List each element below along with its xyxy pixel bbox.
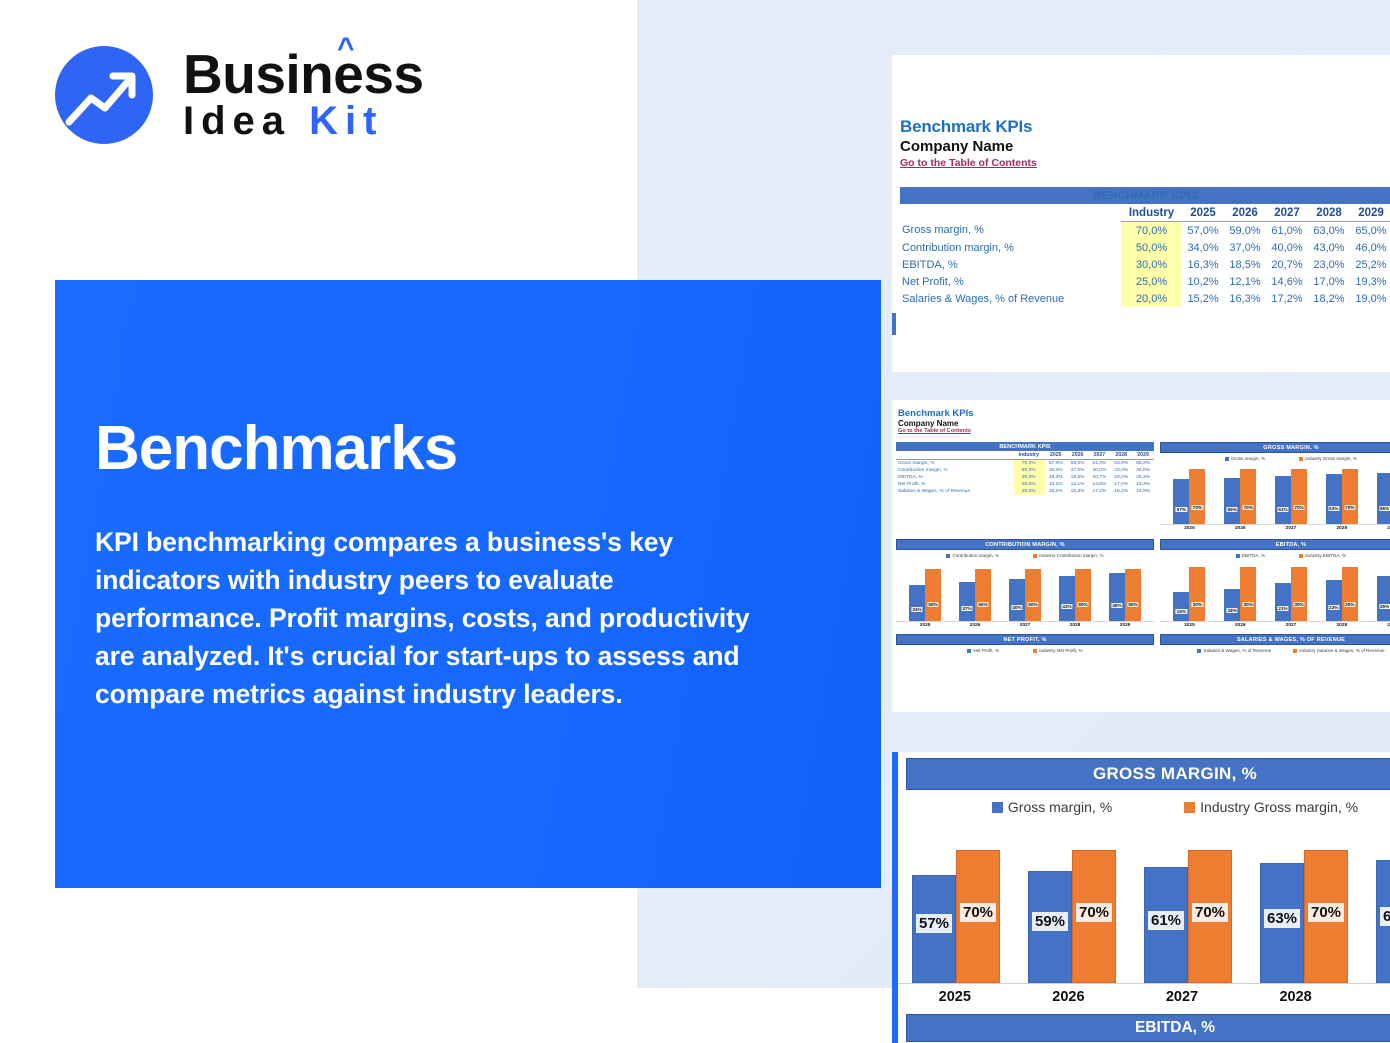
chart-bar-group: 37%50%: [959, 558, 991, 621]
cell-value: 15,2%: [1182, 290, 1224, 307]
axis-tick-label: 2026: [1235, 526, 1246, 531]
row-label: Net Profit, %: [900, 273, 1121, 290]
table-row: Contribution margin, % 50,0% 34,0% 37,0%…: [896, 467, 1154, 474]
chart-bar-value: 70%: [1192, 505, 1203, 510]
chart-x-axis: 20252026202720282029: [898, 989, 1390, 1005]
row-label: Gross margin, %: [900, 222, 1121, 240]
axis-tick-label: 2027: [1020, 623, 1031, 628]
col-2026: 2026: [1067, 451, 1089, 460]
chart-bar: 57%: [912, 875, 956, 983]
chart-legend: Net Profit, % Industry Net Profit, %: [896, 645, 1154, 653]
chart-bar: 43%: [1059, 576, 1075, 621]
chart-bar-value: 61%: [1277, 507, 1288, 512]
cell-value: 14,6%: [1089, 481, 1111, 488]
chart-bar-value: 40%: [1011, 605, 1022, 610]
cell-value: 40,0%: [1089, 467, 1111, 474]
chart-panel-bottom[interactable]: GROSS MARGIN, % Gross margin, % Industry…: [892, 752, 1390, 1043]
chart-bar: 50%: [1125, 569, 1141, 622]
chart-bar: 63%: [1326, 474, 1342, 524]
col-industry: Industry: [1121, 204, 1182, 222]
cell-value: 34,0%: [1182, 239, 1224, 256]
cell-value: 17,2%: [1266, 290, 1308, 307]
chart-bar: 25%: [1377, 576, 1390, 621]
cell-value: 19,3%: [1350, 273, 1390, 290]
cell-value: 34,0%: [1045, 467, 1067, 474]
cell-value: 18,5%: [1067, 474, 1089, 481]
chart-title: GROSS MARGIN, %: [1160, 442, 1390, 453]
table-header-row: Industry 2025 2026 2027 2028 2029: [896, 451, 1154, 460]
axis-tick-label: 2029: [1120, 623, 1131, 628]
chart-bar-value: 30%: [1192, 602, 1203, 607]
axis-tick-label: 2028: [1253, 989, 1339, 1005]
chart-bar-value: 65%: [1380, 907, 1390, 926]
legend-swatch-industry: [1033, 554, 1037, 558]
legend-swatch-company: [1236, 554, 1240, 558]
chart-bar: 50%: [975, 569, 991, 622]
chart-plot-area: 34%50%37%50%40%50%43%50%46%50%: [896, 558, 1154, 622]
hero-panel: Benchmarks KPI benchmarking compares a b…: [55, 280, 881, 888]
cell-value: 10,2%: [1182, 273, 1224, 290]
table-of-contents-link[interactable]: Go to the Table of Contents: [900, 157, 1390, 169]
cell-value: 20,7%: [1266, 256, 1308, 273]
cell-value: 17,0%: [1110, 481, 1132, 488]
axis-tick-label: 2029: [1366, 989, 1390, 1005]
cell-value: 19,3%: [1132, 481, 1154, 488]
cell-value: 14,6%: [1266, 273, 1308, 290]
chart-bar-value: 50%: [1127, 602, 1138, 607]
chart-x-axis: 20252026202720282029: [1160, 622, 1390, 628]
table-row: EBITDA, % 30,0% 16,3% 18,5% 20,7% 23,0% …: [896, 474, 1154, 481]
cell-value: 37,0%: [1067, 467, 1089, 474]
chart-bar: 50%: [925, 569, 941, 622]
chart-bar-value: 18%: [1227, 608, 1238, 613]
col-2029: 2029: [1132, 451, 1154, 460]
chart-bar-value: 70%: [1243, 505, 1254, 510]
legend-swatch-company: [992, 802, 1003, 813]
table-row: Net Profit, % 25,0% 10,2% 12,1% 14,6% 17…: [900, 273, 1390, 290]
chart-bar-group: 65%70%: [1377, 461, 1390, 524]
legend-swatch-industry: [1033, 649, 1037, 653]
chart-bar-group: 46%50%: [1109, 558, 1141, 621]
spreadsheet-panel-middle[interactable]: Benchmark KPIs Company Name Go to the Ta…: [892, 400, 1390, 712]
legend-label: Gross margin, %: [1008, 799, 1112, 815]
chart-bar-value: 70%: [1344, 505, 1355, 510]
axis-tick-label: 2025: [1184, 623, 1195, 628]
chart-bar-group: 65%70%: [1376, 831, 1390, 983]
cell-value: 12,1%: [1067, 481, 1089, 488]
chart-bar: 50%: [1075, 569, 1091, 622]
cell-value: 25,2%: [1350, 256, 1390, 273]
col-blank: [896, 451, 1013, 460]
cell-value: 46,0%: [1350, 239, 1390, 256]
sheet-left-marker: [892, 313, 896, 335]
chart-bar-group: 59%70%: [1224, 461, 1256, 524]
cell-value: 61,0%: [1266, 222, 1308, 240]
chart-bar-value: 50%: [977, 602, 988, 607]
legend-label: Salaries & Wages, % of Revenue: [1203, 648, 1271, 653]
cell-industry: 20,0%: [1013, 488, 1045, 495]
legend-swatch-industry: [1299, 457, 1303, 461]
col-2025: 2025: [1182, 204, 1224, 222]
chart-bar-value: 43%: [1061, 604, 1072, 609]
chart-bar-value: 16%: [1176, 609, 1187, 614]
axis-tick-label: 2025: [1184, 526, 1195, 531]
legend-swatch-company: [1225, 457, 1229, 461]
chart-bar-group: 18%30%: [1224, 558, 1256, 621]
chart-bar: 16%: [1173, 592, 1189, 621]
legend-label: Net Profit, %: [973, 648, 999, 653]
cell-value: 20,7%: [1089, 474, 1111, 481]
chart-title: GROSS MARGIN, %: [906, 758, 1390, 790]
chart-bar-value: 34%: [911, 607, 922, 612]
cell-value: 19,0%: [1132, 488, 1154, 495]
chart-bar: 63%: [1260, 863, 1304, 983]
chart-bar-value: 70%: [1192, 903, 1228, 922]
cell-industry: 25,0%: [1121, 273, 1182, 290]
chart-bar: 65%: [1376, 860, 1390, 984]
table-row: Salaries & Wages, % of Revenue 20,0% 15,…: [896, 488, 1154, 495]
legend-swatch-company: [946, 554, 950, 558]
cell-value: 16,3%: [1182, 256, 1224, 273]
axis-tick-label: 2027: [1286, 526, 1297, 531]
chart-ebitda-mini[interactable]: EBITDA, % EBITDA, % Industry EBITDA, % 1…: [1160, 539, 1390, 628]
axis-tick-label: 2025: [920, 623, 931, 628]
axis-tick-label: 2026: [1026, 989, 1112, 1005]
chart-bar-group: 34%50%: [909, 558, 941, 621]
chart-bar-value: 50%: [1027, 602, 1038, 607]
chart-bar: 59%: [1224, 478, 1240, 524]
chart-bar: 70%: [1189, 469, 1205, 524]
legend-label: Industry Net Profit, %: [1039, 648, 1082, 653]
legend-swatch-industry: [1293, 649, 1297, 653]
col-blank: [900, 204, 1121, 222]
cell-industry: 50,0%: [1013, 467, 1045, 474]
chart-bar: 50%: [1025, 569, 1041, 622]
chart-bar: 59%: [1028, 871, 1072, 983]
sheet-subtitle: Company Name: [898, 419, 1390, 428]
chart-plot-area: 57%70%59%70%61%70%63%70%65%70%: [1160, 461, 1390, 525]
cell-value: 59,0%: [1067, 460, 1089, 468]
brand-name-primary: Business ^: [183, 48, 424, 101]
chart-bar-group: 59%70%: [1028, 831, 1116, 983]
chart-title: SALARIES & WAGES, % OF REVENUE: [1160, 634, 1390, 645]
col-2028: 2028: [1110, 451, 1132, 460]
sheet-title: Benchmark KPIs: [898, 408, 1390, 419]
chart-x-axis: 20252026202720282029: [1160, 525, 1390, 531]
chart-contribution-margin-mini[interactable]: CONTRIBUTION MARGIN, % Contribution marg…: [896, 539, 1154, 628]
chart-bar: 70%: [1342, 469, 1358, 524]
chart-bar: 30%: [1240, 567, 1256, 621]
col-2028: 2028: [1308, 204, 1350, 222]
table-row: Salaries & Wages, % of Revenue 20,0% 15,…: [900, 290, 1390, 307]
chart-bar-value: 70%: [1308, 903, 1344, 922]
axis-tick-label: 2027: [1139, 989, 1225, 1005]
chart-bar-value: 23%: [1328, 605, 1339, 610]
cell-value: 65,0%: [1350, 222, 1390, 240]
chart-bar-value: 57%: [1176, 507, 1187, 512]
axis-tick-label: 2026: [1235, 623, 1246, 628]
cell-value: 46,0%: [1132, 467, 1154, 474]
brand-word-idea: Idea: [183, 99, 291, 143]
chart-plot-area: 57%70%59%70%61%70%63%70%65%70%: [898, 831, 1390, 984]
chart-title: EBITDA, %: [906, 1014, 1390, 1042]
brand-name-secondary: Idea Kit: [183, 100, 424, 142]
chart-bar-value: 65%: [1379, 506, 1390, 511]
chart-plot-area: 16%30%18%30%21%30%23%30%25%30%: [1160, 558, 1390, 622]
cell-value: 16,3%: [1045, 474, 1067, 481]
chart-bar-value: 63%: [1264, 909, 1300, 928]
chart-bar: 57%: [1173, 479, 1189, 524]
chart-bar-value: 70%: [960, 903, 996, 922]
chart-bar-group: 61%70%: [1144, 831, 1232, 983]
spreadsheet-panel-top[interactable]: Benchmark KPIs Company Name Go to the Ta…: [892, 55, 1390, 372]
chart-bar-value: 61%: [1148, 911, 1184, 930]
cell-industry: 20,0%: [1121, 290, 1182, 307]
cell-value: 16,3%: [1067, 488, 1089, 495]
chart-bar: 70%: [1291, 469, 1307, 524]
chart-bar-value: 25%: [1379, 604, 1390, 609]
legend-label: Industry Salaries & Wages, % of Revenue: [1299, 648, 1384, 653]
table-row: Gross margin, % 70,0% 57,0% 59,0% 61,0% …: [896, 460, 1154, 468]
row-label: EBITDA, %: [896, 474, 1013, 481]
row-label: Contribution margin, %: [900, 239, 1121, 256]
brand-word-kit: Kit: [309, 99, 383, 143]
chart-bar: 34%: [909, 585, 925, 621]
chart-bar: 70%: [1304, 850, 1348, 983]
page-title: Benchmarks: [95, 418, 457, 480]
cell-value: 40,0%: [1266, 239, 1308, 256]
chart-bar: 21%: [1275, 583, 1291, 621]
row-label: Contribution margin, %: [896, 467, 1013, 474]
chart-salaries-wages-mini[interactable]: SALARIES & WAGES, % OF REVENUE Salaries …: [1160, 634, 1390, 653]
chart-bar-group: 63%70%: [1326, 461, 1358, 524]
axis-tick-label: 2028: [1070, 623, 1081, 628]
chart-bar-group: 21%30%: [1275, 558, 1307, 621]
chart-bar-group: 61%70%: [1275, 461, 1307, 524]
axis-tick-label: 2027: [1286, 623, 1297, 628]
chart-bar-group: 23%30%: [1326, 558, 1358, 621]
row-label: EBITDA, %: [900, 256, 1121, 273]
chart-bar: 40%: [1009, 579, 1025, 621]
legend-swatch-company: [967, 649, 971, 653]
cell-value: 10,2%: [1045, 481, 1067, 488]
chart-bar-value: 70%: [1076, 903, 1112, 922]
chart-bar-group: 25%30%: [1377, 558, 1390, 621]
axis-tick-label: 2028: [1336, 526, 1347, 531]
chart-bar-value: 46%: [1111, 603, 1122, 608]
table-row: EBITDA, % 30,0% 16,3% 18,5% 20,7% 23,0% …: [900, 256, 1390, 273]
chart-bar-value: 63%: [1328, 506, 1339, 511]
cell-value: 43,0%: [1110, 467, 1132, 474]
cell-industry: 50,0%: [1121, 239, 1182, 256]
chart-bar-group: 63%70%: [1260, 831, 1348, 983]
cell-value: 59,0%: [1224, 222, 1266, 240]
brand-name-text: Business: [183, 43, 424, 105]
table-row: Contribution margin, % 50,0% 34,0% 37,0%…: [900, 239, 1390, 256]
chart-bar-value: 21%: [1277, 606, 1288, 611]
chart-bar: 18%: [1224, 589, 1240, 621]
cell-value: 18,5%: [1224, 256, 1266, 273]
chart-gross-margin-mini[interactable]: GROSS MARGIN, % Gross margin, % Industry…: [1160, 442, 1390, 531]
chart-bar-value: 70%: [1293, 505, 1304, 510]
chart-net-profit-mini[interactable]: NET PROFIT, % Net Profit, % Industry Net…: [896, 634, 1154, 653]
chart-bar: 30%: [1189, 567, 1205, 621]
axis-tick-label: 2026: [970, 623, 981, 628]
benchmark-kpi-table: BENCHMARK KPIS Industry 2025 2026 2027 2…: [900, 187, 1390, 307]
chart-bar-value: 50%: [1077, 602, 1088, 607]
chart-bar-value: 59%: [1032, 912, 1068, 931]
chart-bar: 70%: [1188, 850, 1232, 983]
chart-bar-value: 37%: [961, 606, 972, 611]
cell-value: 16,3%: [1224, 290, 1266, 307]
chart-bar: 61%: [1144, 867, 1188, 983]
col-2029: 2029: [1350, 204, 1390, 222]
growth-arrow-icon: [55, 46, 153, 144]
cell-value: 12,1%: [1224, 273, 1266, 290]
chart-bar-group: 43%50%: [1059, 558, 1091, 621]
axis-tick-label: 2025: [912, 989, 998, 1005]
cell-industry: 25,0%: [1013, 481, 1045, 488]
chart-bar: 37%: [959, 582, 975, 621]
chart-bar: 30%: [1291, 567, 1307, 621]
col-2025: 2025: [1045, 451, 1067, 460]
chart-bar-value: 50%: [927, 602, 938, 607]
cell-value: 15,2%: [1045, 488, 1067, 495]
chart-bar: 70%: [956, 850, 1000, 983]
slide-canvas: Business ^ Idea Kit Benchmarks KPI bench…: [0, 0, 1390, 1043]
cell-value: 63,0%: [1110, 460, 1132, 468]
table-of-contents-link[interactable]: Go to the Table of Contents: [898, 428, 1390, 434]
chart-title: NET PROFIT, %: [896, 634, 1154, 645]
cell-value: 65,0%: [1132, 460, 1154, 468]
chart-bar-value: 30%: [1243, 602, 1254, 607]
chart-bar: 30%: [1342, 567, 1358, 621]
chart-bar: 70%: [1072, 850, 1116, 983]
cell-value: 57,0%: [1182, 222, 1224, 240]
table-row: Net Profit, % 25,0% 10,2% 12,1% 14,6% 17…: [896, 481, 1154, 488]
chart-bar: 65%: [1377, 473, 1390, 524]
col-industry: Industry: [1013, 451, 1045, 460]
legend-label: Industry Gross margin, %: [1200, 799, 1358, 815]
row-label: Salaries & Wages, % of Revenue: [900, 290, 1121, 307]
table-banner: BENCHMARK KPIS: [900, 187, 1390, 204]
chart-legend: Gross margin, % Industry Gross margin, %: [1160, 453, 1390, 461]
chart-x-axis: 20252026202720282029: [896, 622, 1154, 628]
chart-legend: EBITDA, % Industry EBITDA, %: [1160, 550, 1390, 558]
cell-value: 19,0%: [1350, 290, 1390, 307]
col-2027: 2027: [1089, 451, 1111, 460]
cell-value: 61,0%: [1089, 460, 1111, 468]
cell-value: 23,0%: [1308, 256, 1350, 273]
chart-legend: Contribution margin, % Industry Contribu…: [896, 550, 1154, 558]
sheet-subtitle: Company Name: [900, 138, 1390, 155]
chart-bar-group: 57%70%: [1173, 461, 1205, 524]
chart-bar: 70%: [1240, 469, 1256, 524]
chart-title: EBITDA, %: [1160, 539, 1390, 550]
chart-bar-group: 16%30%: [1173, 558, 1205, 621]
cell-industry: 30,0%: [1013, 474, 1045, 481]
chart-bar-group: 57%70%: [912, 831, 1000, 983]
cell-value: 63,0%: [1308, 222, 1350, 240]
chart-legend: Salaries & Wages, % of Revenue Industry …: [1160, 645, 1390, 653]
cell-value: 37,0%: [1224, 239, 1266, 256]
cell-industry: 70,0%: [1013, 460, 1045, 468]
chart-bar-value: 59%: [1227, 507, 1238, 512]
col-2027: 2027: [1266, 204, 1308, 222]
col-2026: 2026: [1224, 204, 1266, 222]
chart-bar: 61%: [1275, 476, 1291, 524]
cell-value: 57,0%: [1045, 460, 1067, 468]
cell-industry: 70,0%: [1121, 222, 1182, 240]
sheet-title: Benchmark KPIs: [900, 117, 1390, 137]
legend-swatch-company: [1197, 649, 1201, 653]
chart-bar: 23%: [1326, 580, 1342, 621]
chart-bar-value: 30%: [1293, 602, 1304, 607]
cell-value: 18,2%: [1110, 488, 1132, 495]
cell-value: 18,2%: [1308, 290, 1350, 307]
hero-description: KPI benchmarking compares a business's k…: [95, 524, 775, 713]
axis-tick-label: 2028: [1336, 623, 1347, 628]
cell-value: 17,2%: [1089, 488, 1111, 495]
chart-title: CONTRIBUTION MARGIN, %: [896, 539, 1154, 550]
table-header-row: Industry 2025 2026 2027 2028 2029: [900, 204, 1390, 222]
chart-bar-value: 57%: [916, 914, 952, 933]
table-row: Gross margin, % 70,0% 57,0% 59,0% 61,0% …: [900, 222, 1390, 240]
row-label: Net Profit, %: [896, 481, 1013, 488]
row-label: Salaries & Wages, % of Revenue: [896, 488, 1013, 495]
chart-bar: 46%: [1109, 573, 1125, 621]
legend-swatch-industry: [1184, 802, 1195, 813]
cell-value: 23,0%: [1110, 474, 1132, 481]
cell-industry: 30,0%: [1121, 256, 1182, 273]
benchmark-kpi-table-mini: BENCHMARK KPIS Industry 2025 2026 2027 2…: [896, 442, 1154, 531]
row-label: Gross margin, %: [896, 460, 1013, 468]
brand-caret-icon: ^: [337, 35, 354, 64]
cell-value: 17,0%: [1308, 273, 1350, 290]
brand-logo: Business ^ Idea Kit: [55, 46, 424, 144]
chart-bar-value: 30%: [1344, 602, 1355, 607]
cell-value: 25,2%: [1132, 474, 1154, 481]
chart-legend: Gross margin, % Industry Gross margin, %: [898, 790, 1390, 815]
legend-swatch-industry: [1299, 554, 1303, 558]
cell-value: 43,0%: [1308, 239, 1350, 256]
table-banner: BENCHMARK KPIS: [896, 442, 1154, 451]
chart-bar-group: 40%50%: [1009, 558, 1041, 621]
